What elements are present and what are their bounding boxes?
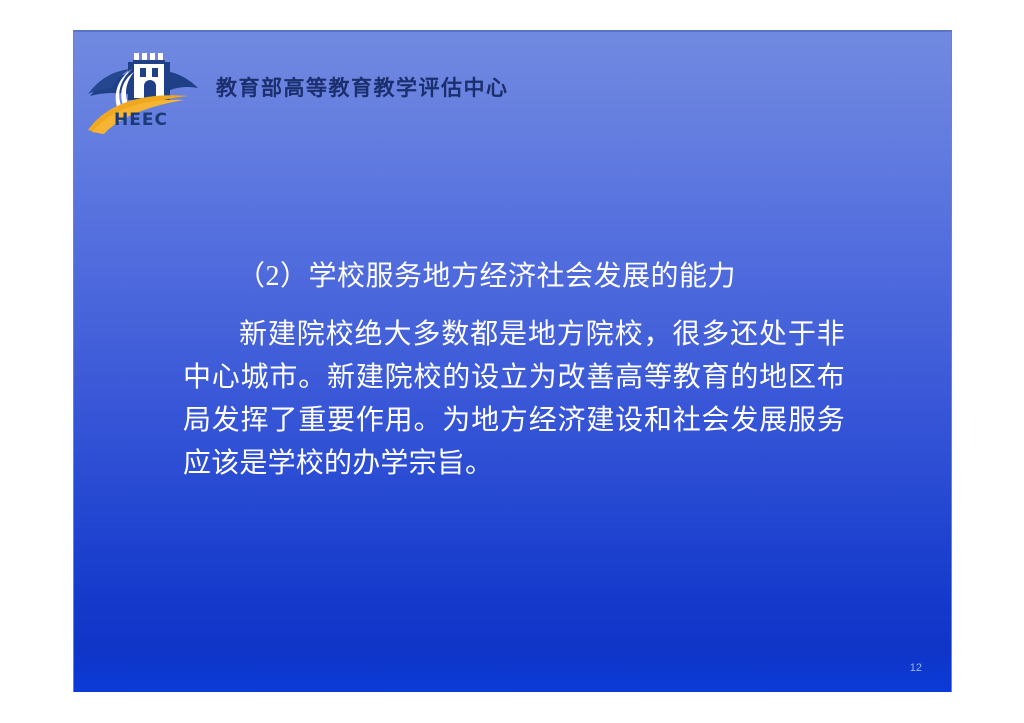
presentation-slide: 教育部高等教育教学评估中心 HEEC （2）学校服务地方经济社会发展的能力 新建… bbox=[73, 30, 952, 692]
slide-title: （2）学校服务地方经济社会发展的能力 bbox=[237, 254, 736, 294]
slide-page-number: 12 bbox=[910, 662, 922, 674]
slide-content: （2）学校服务地方经济社会发展的能力 新建院校绝大多数都是地方院校，很多还处于非… bbox=[74, 32, 953, 694]
slide-body-paragraph: 新建院校绝大多数都是地方院校，很多还处于非中心城市。新建院校的设立为改善高等教育… bbox=[183, 313, 845, 485]
